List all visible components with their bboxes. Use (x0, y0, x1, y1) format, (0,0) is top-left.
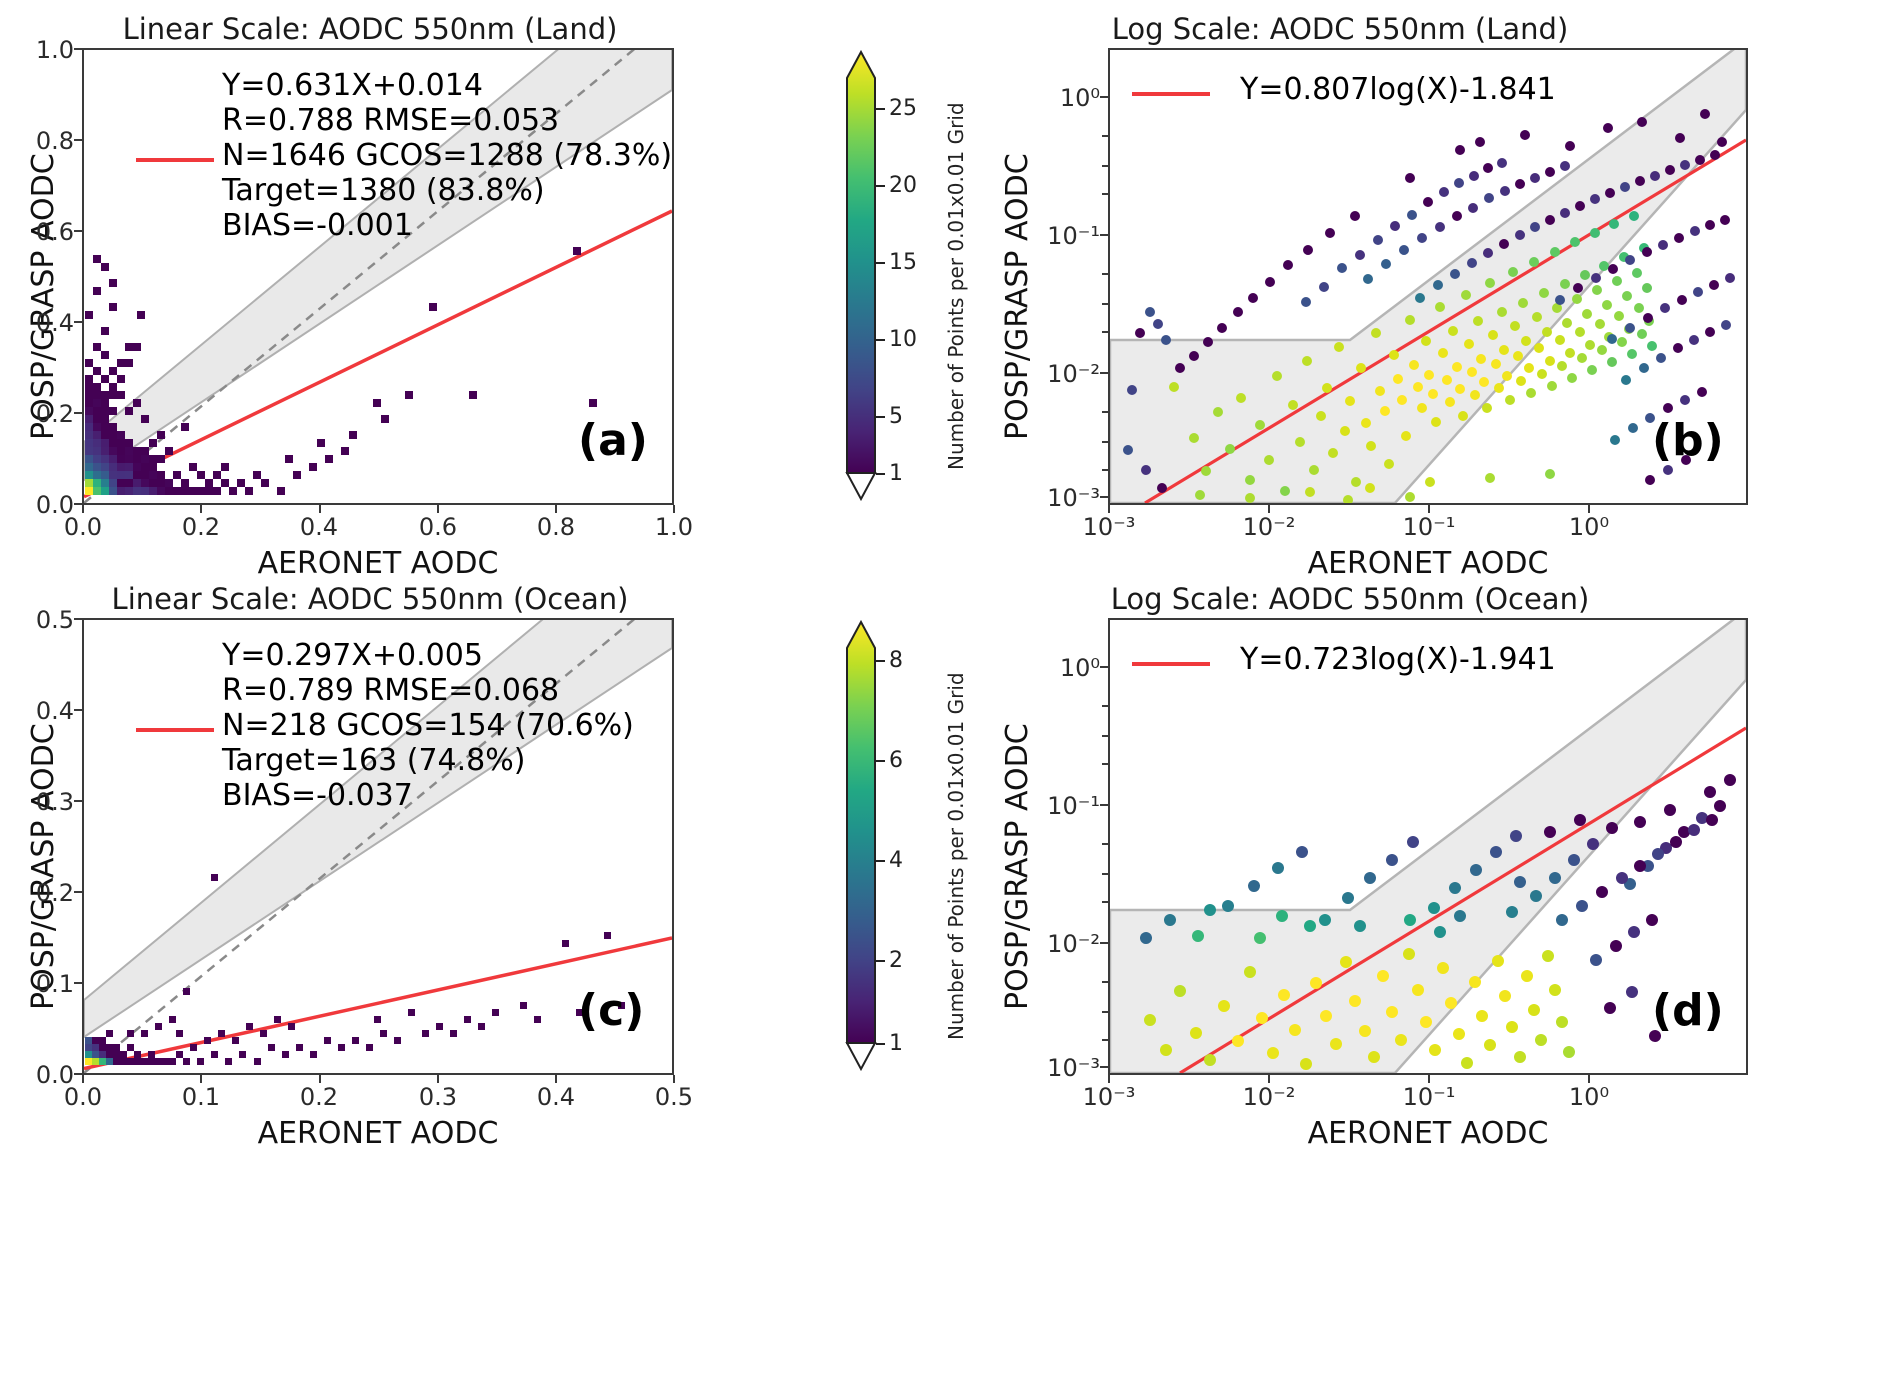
xtick: 10⁰ (1558, 1083, 1620, 1111)
xtick: 0.2 (294, 1083, 344, 1111)
panel-b-legend-line (1132, 92, 1210, 96)
ytick: 0.1 (16, 970, 74, 998)
ytick: 10⁻¹ (1030, 792, 1100, 820)
colorbar-tick: 1 (889, 461, 903, 486)
panel-a-stats: Y=0.631X+0.014 R=0.788 RMSE=0.053 N=1646… (222, 68, 672, 243)
panel-b-letter: (b) (1652, 415, 1724, 466)
ytick: 1.0 (16, 36, 74, 64)
panel-d-canvas (1110, 620, 1746, 1073)
panel-a-ylabel: POSP/GRASP AODC (26, 153, 61, 440)
colorbar-tick: 10 (889, 327, 917, 352)
ytick: 10⁻¹ (1030, 222, 1100, 250)
colorbar-tick: 15 (889, 250, 917, 275)
colorbar-tick: 6 (889, 748, 903, 773)
stat-line: R=0.789 RMSE=0.068 (222, 673, 634, 708)
colorbar-tick: 4 (889, 848, 903, 873)
colorbar-tick: 25 (889, 96, 917, 121)
stat-line: BIAS=-0.037 (222, 778, 634, 813)
panel-a-legend-line (136, 158, 214, 162)
xtick: 10⁻² (1238, 1083, 1300, 1111)
panel-d-xlabel: AERONET AODC (1228, 1116, 1628, 1151)
ytick: 0.4 (16, 697, 74, 725)
panel-c-stats: Y=0.297X+0.005 R=0.789 RMSE=0.068 N=218 … (222, 638, 634, 813)
xtick: 10⁻¹ (1398, 513, 1460, 541)
figure-aodc-validation: Linear Scale: AODC 550nm (Land) POSP/GRA… (0, 0, 1892, 1399)
ytick: 0.8 (16, 127, 74, 155)
xtick: 0.1 (176, 1083, 226, 1111)
panel-c-xlabel: AERONET AODC (178, 1116, 578, 1151)
panel-c-letter: (c) (578, 985, 644, 1036)
panel-d-letter: (d) (1652, 985, 1724, 1036)
colorbar-tick: 8 (889, 648, 903, 673)
panel-c-ylabel: POSP/GRASP AODC (26, 723, 61, 1010)
xtick: 0.8 (531, 513, 581, 541)
panel-d-ylabel: POSP/GRASP AODC (1000, 723, 1035, 1010)
panel-a-title: Linear Scale: AODC 550nm (Land) (40, 12, 700, 46)
ytick: 10⁰ (1030, 654, 1100, 682)
xtick: 10⁰ (1558, 513, 1620, 541)
stat-line: R=0.788 RMSE=0.053 (222, 103, 672, 138)
xtick: 0.0 (58, 513, 108, 541)
xtick: 0.2 (176, 513, 226, 541)
xtick: 10⁻¹ (1398, 1083, 1460, 1111)
xtick: 0.0 (58, 1083, 108, 1111)
colorbar-tick: 1 (889, 1031, 903, 1056)
colorbar-a (844, 48, 878, 503)
panel-c-legend-line (136, 728, 214, 732)
stat-line: N=1646 GCOS=1288 (78.3%) (222, 138, 672, 173)
stat-line: Y=0.297X+0.005 (222, 638, 634, 673)
xtick: 10⁻³ (1078, 513, 1140, 541)
stat-line: Target=163 (74.8%) (222, 743, 634, 778)
panel-a-letter: (a) (578, 415, 648, 466)
xtick: 0.5 (649, 1083, 699, 1111)
ytick: 10⁰ (1030, 84, 1100, 112)
panel-b-title: Log Scale: AODC 550nm (Land) (1000, 12, 1680, 46)
ytick: 0.6 (16, 218, 74, 246)
ytick: 0.3 (16, 788, 74, 816)
colorbar-a-label: Number of Points per 0.01x0.01 Grid (944, 102, 968, 470)
stat-line: Target=1380 (83.8%) (222, 173, 672, 208)
ytick: 10⁻² (1030, 360, 1100, 388)
panel-d-title: Log Scale: AODC 550nm (Ocean) (1000, 582, 1700, 616)
colorbar-c (844, 618, 878, 1073)
colorbar-tick: 2 (889, 948, 903, 973)
xtick: 0.4 (531, 1083, 581, 1111)
ytick: 0.5 (16, 606, 74, 634)
panel-d-legend-line (1132, 662, 1210, 666)
panel-b-stats: Y=0.807log(X)-1.841 (1240, 72, 1556, 107)
xtick: 0.4 (294, 513, 344, 541)
xtick: 10⁻³ (1078, 1083, 1140, 1111)
panel-b-canvas (1110, 50, 1746, 503)
stat-line: Y=0.723log(X)-1.941 (1240, 642, 1556, 677)
colorbar-tick: 20 (889, 173, 917, 198)
colorbar-tick: 5 (889, 404, 903, 429)
panel-d-stats: Y=0.723log(X)-1.941 (1240, 642, 1556, 677)
ytick: 10⁻² (1030, 930, 1100, 958)
ytick: 0.2 (16, 400, 74, 428)
panel-b-ylabel: POSP/GRASP AODC (1000, 153, 1035, 440)
panel-c-title: Linear Scale: AODC 550nm (Ocean) (30, 582, 710, 616)
colorbar-c-label: Number of Points per 0.01x0.01 Grid (944, 672, 968, 1040)
xtick: 1.0 (649, 513, 699, 541)
stat-line: Y=0.631X+0.014 (222, 68, 672, 103)
ytick: 10⁻³ (1030, 484, 1100, 512)
panel-a-xlabel: AERONET AODC (178, 546, 578, 581)
stat-line: BIAS=-0.001 (222, 208, 672, 243)
ytick: 0.4 (16, 309, 74, 337)
stat-line: N=218 GCOS=154 (70.6%) (222, 708, 634, 743)
xtick: 10⁻² (1238, 513, 1300, 541)
stat-line: Y=0.807log(X)-1.841 (1240, 72, 1556, 107)
xtick: 0.6 (413, 513, 463, 541)
xtick: 0.3 (413, 1083, 463, 1111)
panel-b-xlabel: AERONET AODC (1228, 546, 1628, 581)
ytick: 0.2 (16, 879, 74, 907)
ytick: 10⁻³ (1030, 1054, 1100, 1082)
